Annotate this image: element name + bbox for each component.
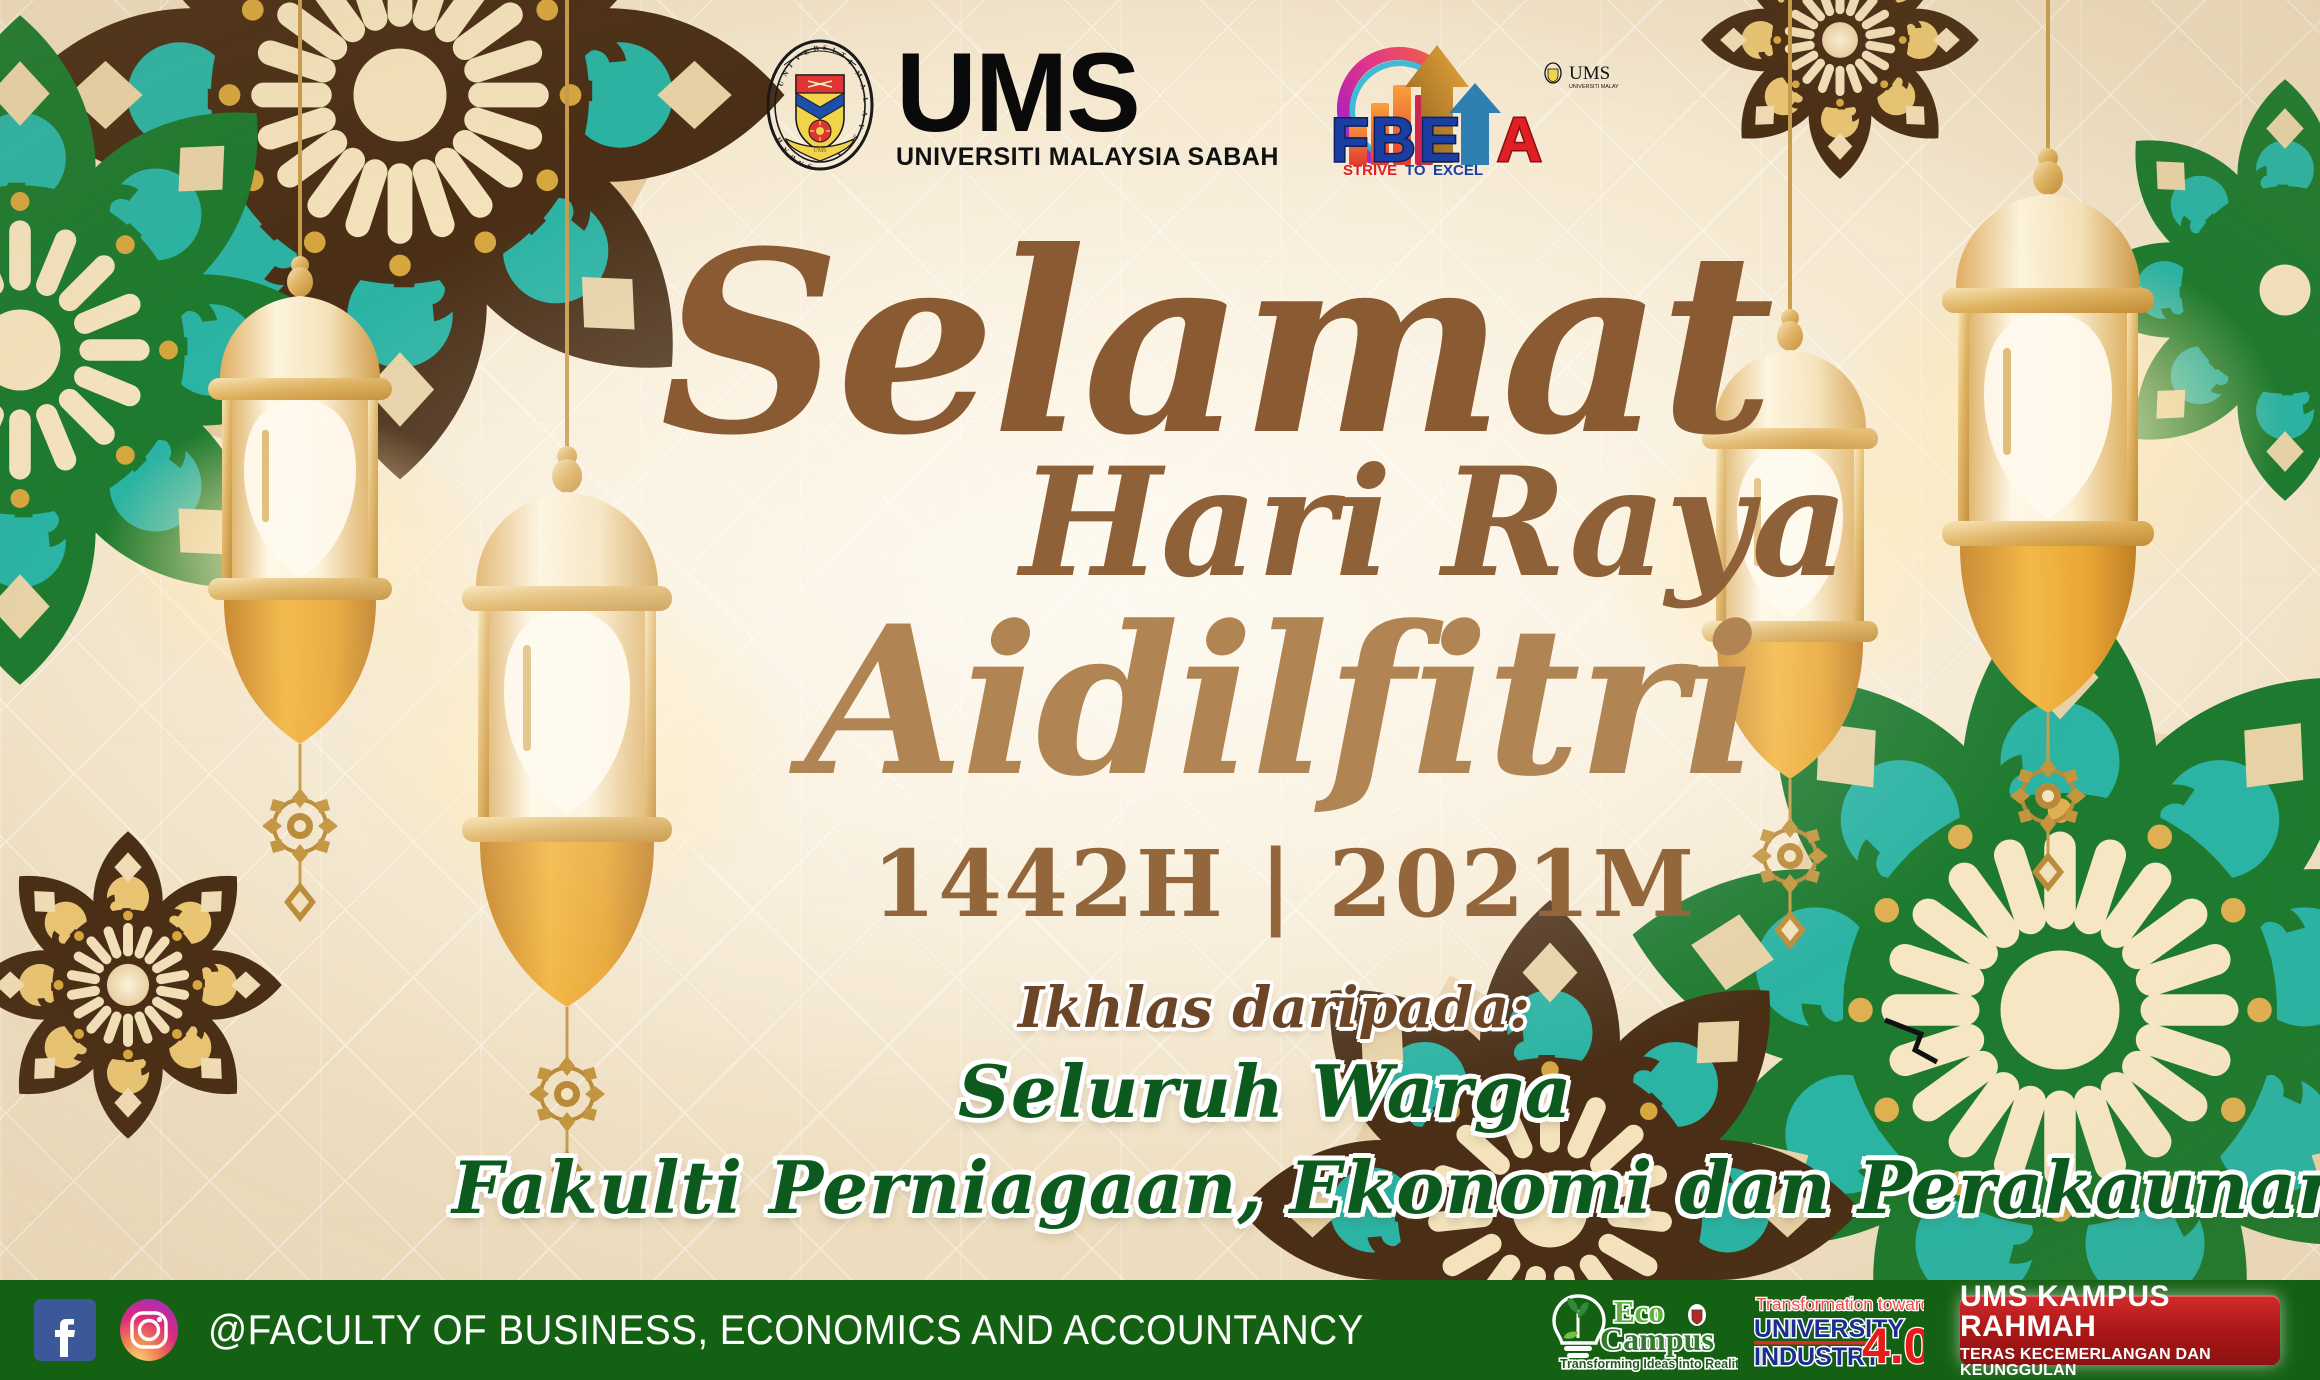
ums-wordmark: UMS xyxy=(896,41,1279,144)
svg-text:U N I V E R S I T I: U N I V E R S I T I xyxy=(790,35,851,37)
svg-text:UMS: UMS xyxy=(813,148,826,154)
uni40-top: Transformation towards xyxy=(1756,1294,1924,1314)
greeting-line-3: Aidilfitri xyxy=(805,600,1758,805)
ums-crest-icon: U N I V E R S I T I U N I V E R S I T I … xyxy=(760,35,880,175)
svg-text:S: S xyxy=(807,162,812,170)
signoff-line-2: Fakulti Perniagaan, Ekonomi dan Perakaun… xyxy=(452,1152,2320,1224)
svg-text:STRIVE: STRIVE xyxy=(1343,162,1397,175)
eco-word-2: Campus xyxy=(1600,1321,1714,1357)
ums-subtitle: UNIVERSITI MALAYSIA SABAH xyxy=(896,146,1279,169)
svg-text:UMS: UMS xyxy=(1569,63,1610,84)
rosette-lower-left xyxy=(0,831,282,1139)
svg-text:N: N xyxy=(781,69,790,78)
signoff-from-label: Ikhlas daripada: xyxy=(1018,980,1530,1036)
eco-bulb-icon xyxy=(1554,1296,1604,1358)
eco-ums-mini-crest xyxy=(1688,1304,1706,1326)
svg-text:TO: TO xyxy=(1405,162,1426,175)
header-logos: U N I V E R S I T I U N I V E R S I T I … xyxy=(760,30,1619,180)
uni40-number: 4.0 xyxy=(1862,1318,1924,1369)
eco-tagline: Transforming Ideas into Reality xyxy=(1560,1357,1738,1371)
svg-text:A: A xyxy=(860,111,868,117)
university-40-badge: Transformation towards UNIVERSITY INDUST… xyxy=(1752,1291,1924,1369)
svg-text:A: A xyxy=(858,83,867,91)
greeting-card: U N I V E R S I T I U N I V E R S I T I … xyxy=(0,0,2320,1380)
fbea-logo-icon: F B E A STRIVE TO EXCEL UMS UNIVERSITI M… xyxy=(1309,35,1619,175)
svg-text:S: S xyxy=(823,44,827,52)
rosette-top-right xyxy=(1701,0,1979,179)
instagram-icon[interactable] xyxy=(118,1299,180,1361)
footer-bar: @FACULTY OF BUSINESS, ECONOMICS AND ACCO… xyxy=(0,1280,2320,1380)
greeting-year: 1442H | 2021M xyxy=(872,838,1696,930)
svg-text:EXCEL: EXCEL xyxy=(1433,162,1483,175)
eco-campus-badge: Eco Campus Transforming Ideas into Reali… xyxy=(1548,1288,1738,1372)
svg-text:Y: Y xyxy=(856,122,865,129)
ums-wordmark-block: UMS UNIVERSITI MALAYSIA SABAH xyxy=(896,41,1279,169)
rahmah-title: UMS KAMPUS RAHMAH xyxy=(1960,1282,2280,1342)
signoff-line-1: Seluruh Warga xyxy=(958,1056,1572,1128)
svg-text:UNIVERSITI MALAYSIA SABAH: UNIVERSITI MALAYSIA SABAH xyxy=(1569,84,1619,90)
rahmah-subtitle: TERAS KECEMERLANGAN DAN KEUNGGULAN xyxy=(1960,1347,2280,1379)
facebook-icon[interactable] xyxy=(34,1299,96,1361)
greeting-line-2: Hari Raya xyxy=(1020,448,1848,598)
kampus-rahmah-badge: UMS KAMPUS RAHMAH TERAS KECEMERLANGAN DA… xyxy=(1960,1295,2280,1365)
svg-text:A: A xyxy=(1497,106,1542,175)
greeting-line-1: Selamat xyxy=(660,218,1771,468)
social-handle: @FACULTY OF BUSINESS, ECONOMICS AND ACCO… xyxy=(208,1306,1364,1354)
svg-text:A: A xyxy=(797,159,804,168)
